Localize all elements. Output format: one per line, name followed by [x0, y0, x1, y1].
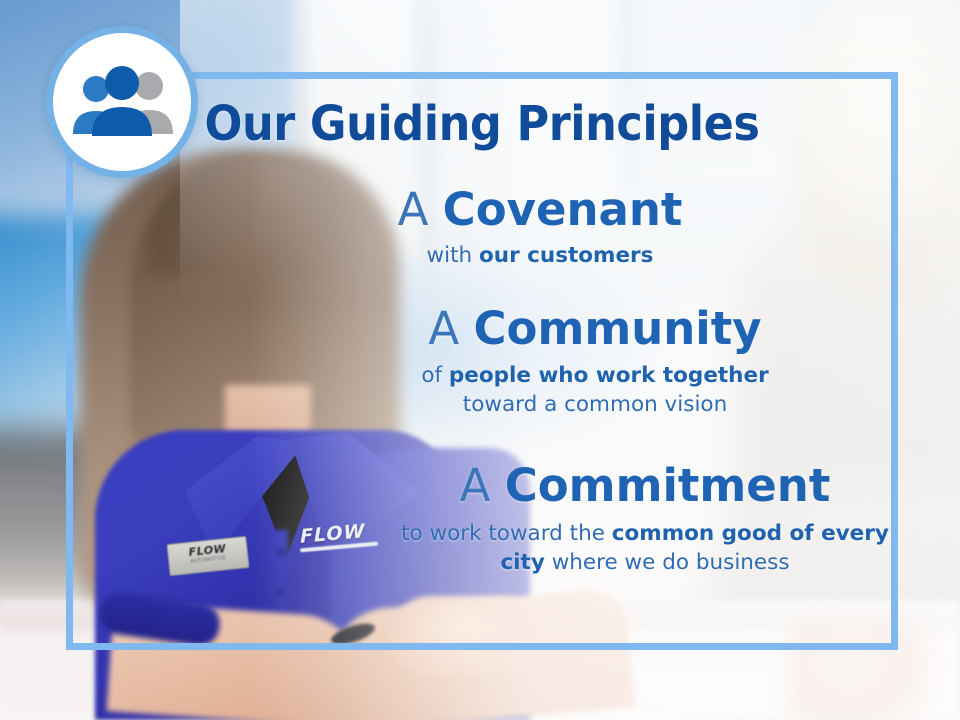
principle-keyword: Covenant — [443, 183, 683, 236]
principle-subtext-prefix: to work toward the — [401, 521, 612, 546]
principle-heading: A Covenant — [300, 186, 780, 233]
window-pane — [640, 0, 800, 190]
guiding-principles-graphic: FLOW FLOW AUTOMOTIVE Our Guiding Princip… — [0, 0, 960, 720]
principle-community: A Community of people who work together … — [350, 305, 840, 419]
shirt-button — [276, 548, 285, 557]
principle-subtext-bold: our customers — [479, 243, 653, 268]
shirt-button — [276, 588, 285, 597]
principle-commitment: A Commitment to work toward the common g… — [400, 462, 890, 577]
principle-keyword: Commitment — [505, 459, 831, 512]
customer-hand — [790, 620, 930, 720]
principle-heading: A Commitment — [400, 462, 890, 509]
principle-lead: A — [398, 183, 443, 236]
associate-clasped-hands — [390, 596, 540, 676]
page-title: Our Guiding Principles — [95, 96, 869, 152]
principle-subtext-suffix: where we do business — [545, 550, 790, 575]
principle-lead: A — [460, 459, 505, 512]
principle-subtext-prefix: of — [421, 363, 449, 388]
principle-heading: A Community — [350, 305, 840, 352]
principle-subtext: of people who work together toward a com… — [350, 361, 840, 419]
principle-subtext-prefix: with — [427, 243, 479, 268]
principle-subtext: to work toward the common good of every … — [400, 519, 890, 577]
principle-subtext-line2: toward a common vision — [463, 392, 727, 417]
principle-covenant: A Covenant with our customers — [300, 186, 780, 270]
principle-subtext: with our customers — [300, 241, 780, 270]
principle-keyword: Community — [474, 302, 762, 355]
principle-lead: A — [428, 302, 473, 355]
principle-subtext-bold: people who work together — [449, 363, 769, 388]
